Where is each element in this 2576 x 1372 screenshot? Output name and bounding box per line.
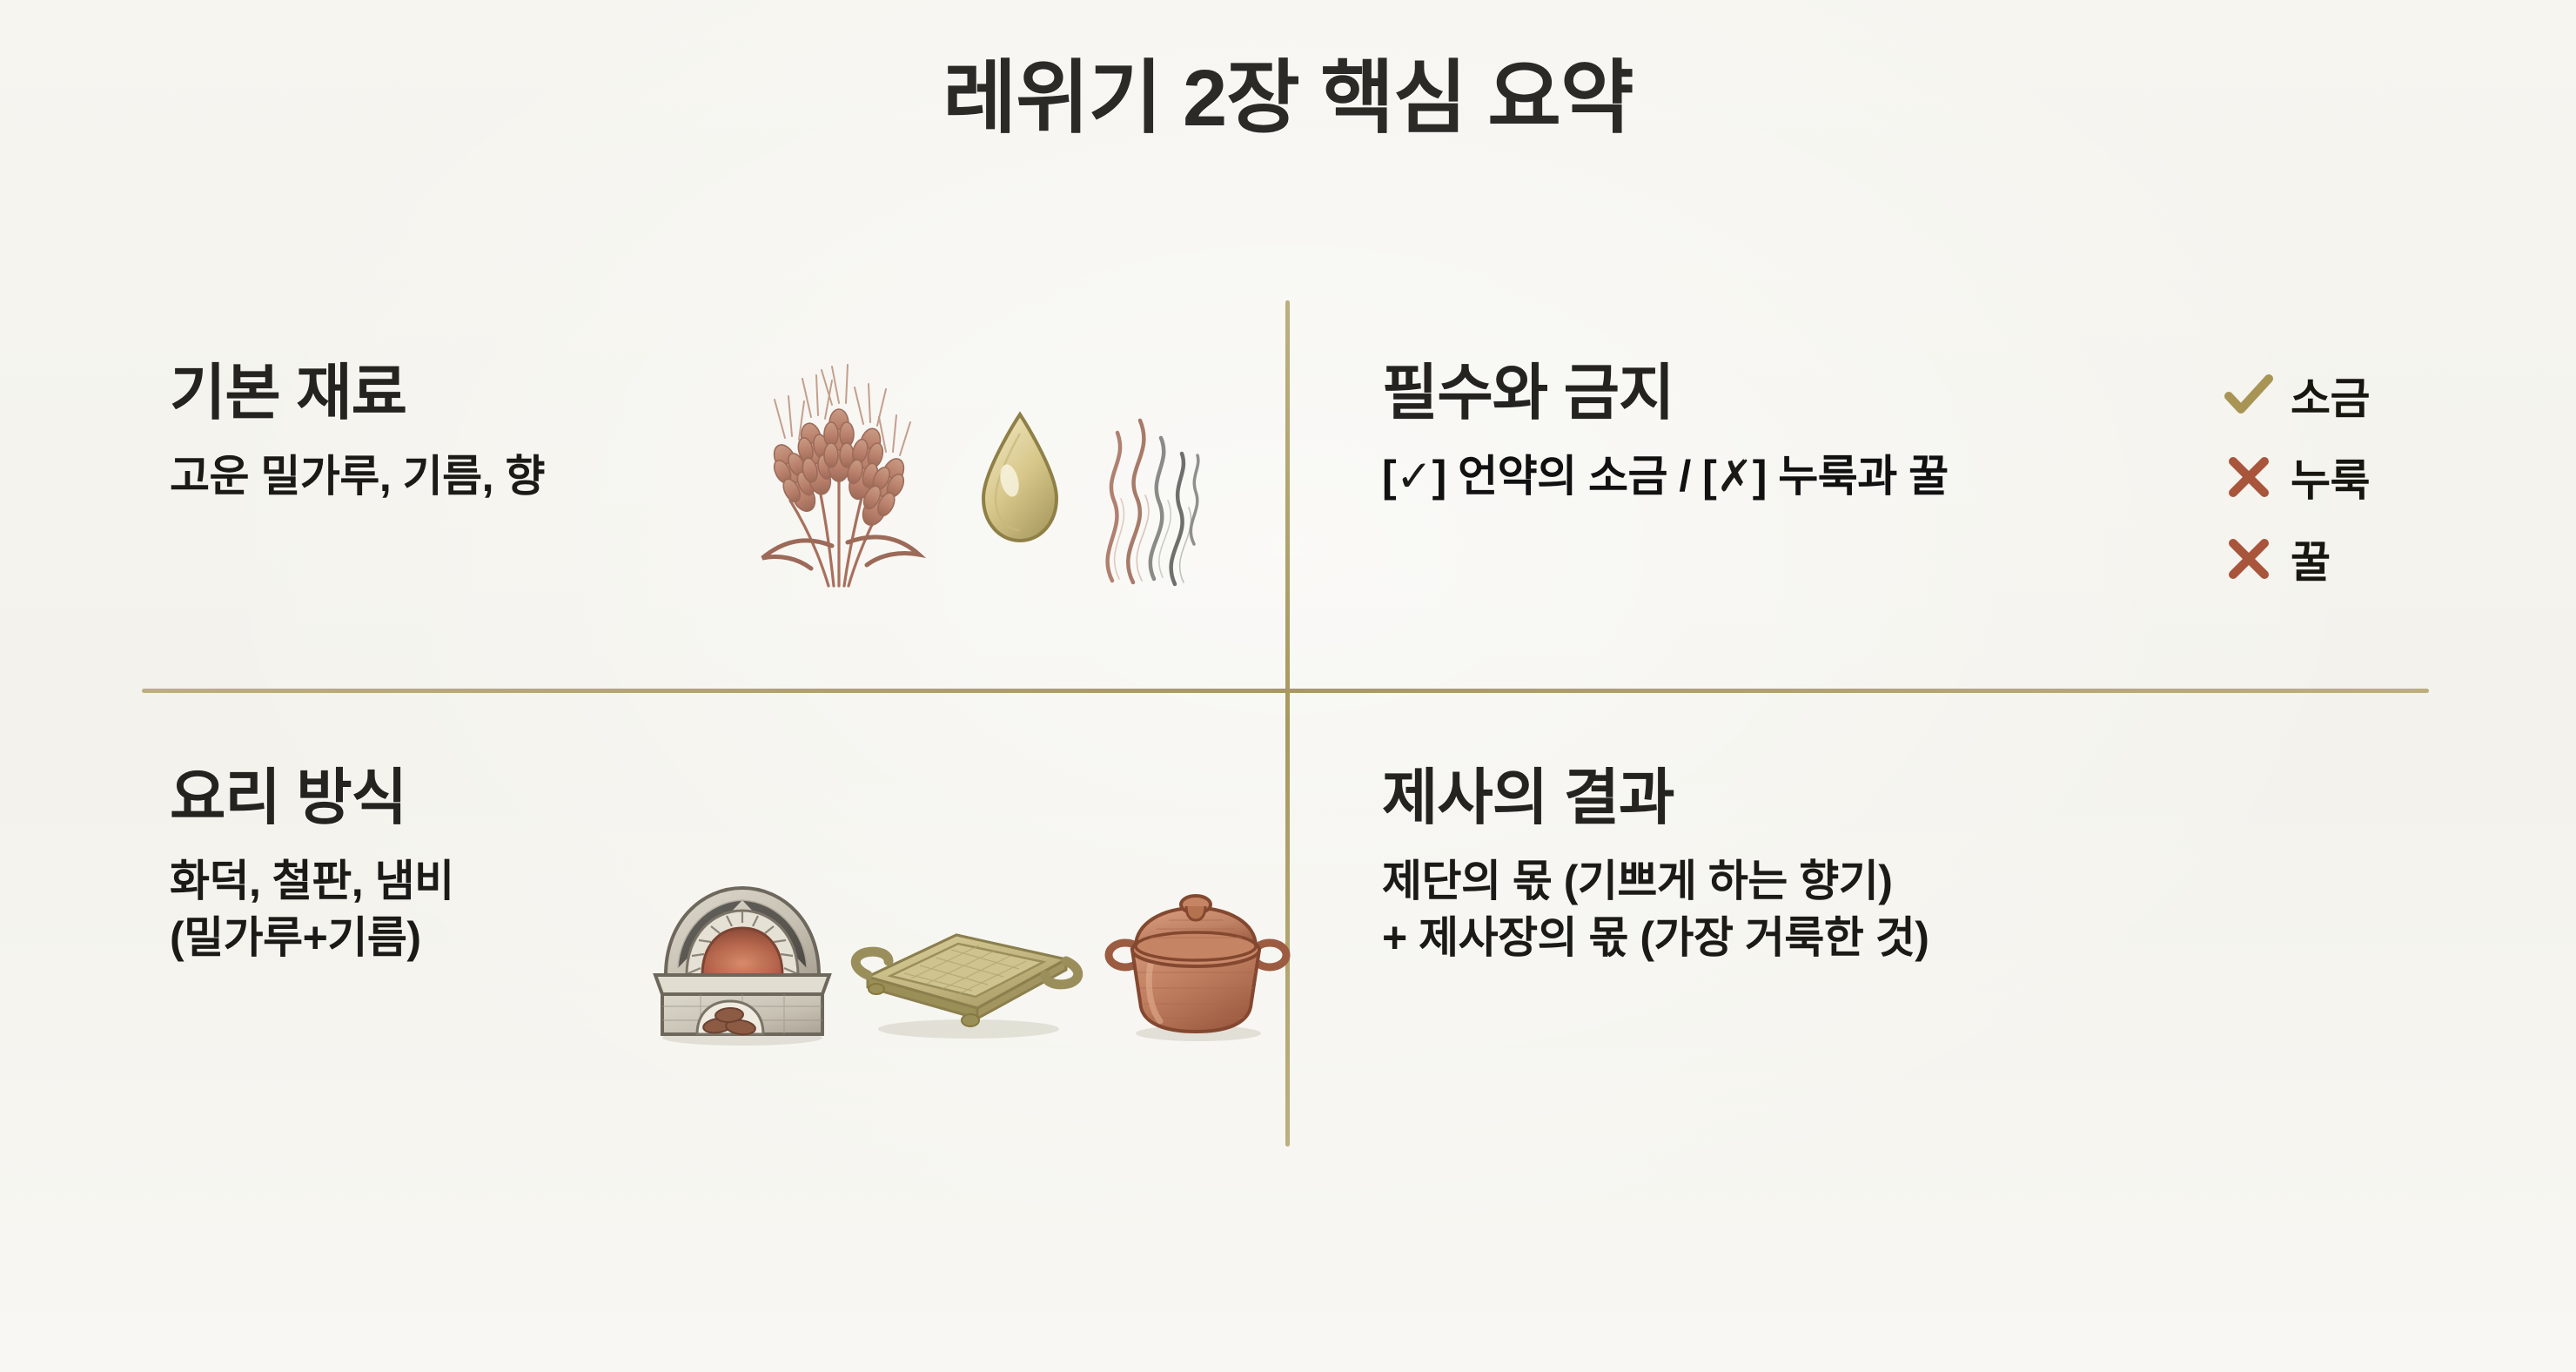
cooking-methods-illustrations <box>640 857 1290 1045</box>
cross-icon <box>2224 535 2273 583</box>
quadrant-offering-result: 제사의 결과 제단의 몫 (기쁘게 하는 향기) + 제사장의 몫 (가장 거룩… <box>1382 766 2496 1114</box>
required-forbidden-checklist: 소금 누룩 꿀 <box>2224 366 2370 588</box>
wheat-sheaf-icon <box>731 361 949 596</box>
inline-bracket-open: [ <box>1382 448 1396 505</box>
incense-smoke-icon <box>1091 370 1222 588</box>
page-title: 레위기 2장 핵심 요약 <box>0 33 2576 149</box>
body-line: 제단의 몫 (기쁘게 하는 향기) <box>1382 853 2496 910</box>
quadrant-heading-offering-result: 제사의 결과 <box>1382 766 2496 831</box>
cooking-pot-icon <box>1103 892 1290 1045</box>
quadrant-body-offering-result: 제단의 몫 (기쁘게 하는 향기) + 제사장의 몫 (가장 거룩한 것) <box>1382 853 2496 966</box>
inline-check-icon: ✓ <box>1396 452 1432 501</box>
check-icon <box>2224 371 2273 420</box>
oil-drop-icon <box>971 407 1069 551</box>
clay-oven-icon <box>640 871 831 1045</box>
horizontal-divider <box>142 689 2429 693</box>
list-item: 소금 <box>2224 366 2370 425</box>
inline-suffix-text: ] 누룩과 꿀 <box>1753 448 1949 505</box>
checklist-label: 소금 <box>2291 364 2370 427</box>
list-item: 꿀 <box>2224 529 2370 588</box>
inline-cross-icon: ✗ <box>1716 452 1752 501</box>
checklist-label: 누룩 <box>2291 446 2370 508</box>
quadrant-heading-cooking-methods: 요리 방식 <box>170 766 1240 831</box>
list-item: 누룩 <box>2224 447 2370 507</box>
checklist-label: 꿀 <box>2291 528 2331 590</box>
body-line: + 제사장의 몫 (가장 거룩한 것) <box>1382 910 2496 966</box>
cross-icon <box>2224 453 2273 501</box>
inline-mid-text: ] 언약의 소금 / [ <box>1432 448 1717 505</box>
slide-canvas: 레위기 2장 핵심 요약 기본 재료 고운 밀가루, 기름, 향 <box>0 0 2576 1372</box>
basic-ingredients-illustrations <box>731 348 1222 609</box>
griddle-pan-icon <box>854 914 1080 1045</box>
